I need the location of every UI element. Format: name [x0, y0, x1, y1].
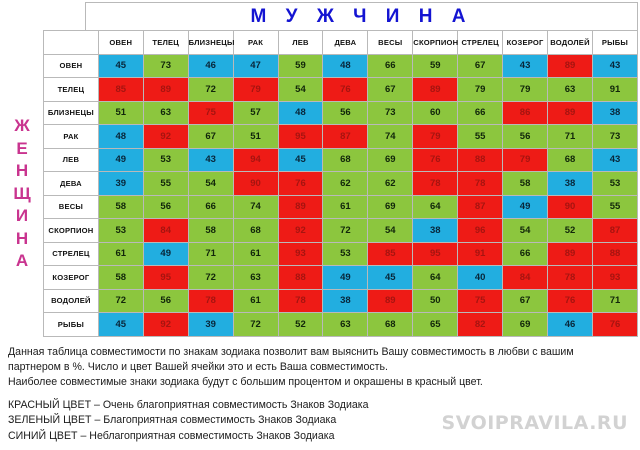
- compatibility-cell: 66: [458, 101, 503, 125]
- compatibility-cell: 49: [503, 195, 548, 219]
- compatibility-cell: 95: [143, 266, 188, 290]
- compatibility-cell: 76: [548, 289, 593, 313]
- compatibility-cell: 56: [323, 101, 368, 125]
- compatibility-cell: 87: [458, 195, 503, 219]
- column-header-5: ДЕВА: [323, 31, 368, 55]
- compatibility-cell: 48: [323, 54, 368, 78]
- compatibility-cell: 72: [188, 78, 233, 102]
- compatibility-cell: 79: [233, 78, 278, 102]
- compatibility-cell: 49: [323, 266, 368, 290]
- compatibility-cell: 69: [368, 195, 413, 219]
- description-block: Данная таблица совместимости по знакам з…: [8, 345, 632, 390]
- table-row: ЛЕВ495343944568697688796843: [44, 148, 638, 172]
- compatibility-cell: 54: [503, 219, 548, 243]
- compatibility-cell: 88: [592, 242, 637, 266]
- compatibility-cell: 64: [413, 266, 458, 290]
- female-axis-label: ЖЕНЩИНА: [2, 48, 42, 340]
- legend-blue: СИНИЙ ЦВЕТ – Неблагоприятная совместимос…: [8, 429, 448, 444]
- compatibility-cell: 95: [278, 125, 323, 149]
- row-header-4: ЛЕВ: [44, 148, 99, 172]
- compatibility-cell: 87: [592, 219, 637, 243]
- compatibility-cell: 59: [413, 54, 458, 78]
- compatibility-cell: 43: [592, 148, 637, 172]
- table-row: ДЕВА395554907662627878583853: [44, 172, 638, 196]
- compatibility-cell: 79: [503, 78, 548, 102]
- column-header-2: БЛИЗНЕЦЫ: [188, 31, 233, 55]
- description-line-2: партнером в %. Число и цвет Вашей ячейки…: [8, 360, 632, 375]
- table-row: БЛИЗНЕЦЫ516375574856736066868938: [44, 101, 638, 125]
- compatibility-cell: 67: [458, 54, 503, 78]
- compatibility-cell: 90: [233, 172, 278, 196]
- description-line-3: Наиболее совместимые знаки зодиака будут…: [8, 375, 632, 390]
- compatibility-cell: 92: [143, 125, 188, 149]
- compatibility-cell: 67: [368, 78, 413, 102]
- compatibility-infographic: М У Ж Ч И Н А ЖЕНЩИНА ОВЕНТЕЛЕЦБЛИЗНЕЦЫР…: [0, 0, 640, 450]
- compatibility-cell: 58: [503, 172, 548, 196]
- compatibility-cell: 75: [188, 101, 233, 125]
- compatibility-cell: 65: [413, 313, 458, 337]
- compatibility-cell: 61: [98, 242, 143, 266]
- compatibility-cell: 68: [368, 313, 413, 337]
- female-axis-letter-1: Е: [16, 138, 27, 160]
- compatibility-cell: 68: [548, 148, 593, 172]
- compatibility-cell: 76: [592, 313, 637, 337]
- compatibility-cell: 94: [233, 148, 278, 172]
- compatibility-cell: 72: [188, 266, 233, 290]
- compatibility-cell: 88: [458, 148, 503, 172]
- compatibility-cell: 64: [413, 195, 458, 219]
- compatibility-cell: 73: [143, 54, 188, 78]
- compatibility-cell: 58: [98, 266, 143, 290]
- compatibility-cell: 93: [278, 242, 323, 266]
- compatibility-cell: 39: [188, 313, 233, 337]
- compatibility-cell: 95: [413, 242, 458, 266]
- compatibility-cell: 91: [458, 242, 503, 266]
- male-title-bar: М У Ж Ч И Н А: [85, 2, 638, 30]
- table-row: ВОДОЛЕЙ725678617838895075677671: [44, 289, 638, 313]
- compatibility-cell: 53: [143, 148, 188, 172]
- compatibility-cell: 85: [368, 242, 413, 266]
- compatibility-cell: 40: [458, 266, 503, 290]
- compatibility-cell: 78: [458, 172, 503, 196]
- compatibility-cell: 43: [188, 148, 233, 172]
- compatibility-cell: 74: [368, 125, 413, 149]
- compatibility-cell: 45: [98, 54, 143, 78]
- compatibility-cell: 60: [413, 101, 458, 125]
- compatibility-cell: 54: [188, 172, 233, 196]
- row-header-5: ДЕВА: [44, 172, 99, 196]
- compatibility-cell: 92: [143, 313, 188, 337]
- female-axis-letter-3: Щ: [13, 183, 30, 205]
- compatibility-cell: 68: [233, 219, 278, 243]
- compatibility-cell: 56: [503, 125, 548, 149]
- row-header-7: СКОРПИОН: [44, 219, 99, 243]
- row-header-8: СТРЕЛЕЦ: [44, 242, 99, 266]
- table-row: СТРЕЛЕЦ614971619353859591668988: [44, 242, 638, 266]
- table-row: ОВЕН457346475948665967438943: [44, 54, 638, 78]
- compatibility-cell: 52: [548, 219, 593, 243]
- compatibility-cell: 51: [233, 125, 278, 149]
- legend-green: ЗЕЛЕНЫЙ ЦВЕТ – Благоприятная совместимос…: [8, 413, 448, 428]
- compatibility-cell: 63: [143, 101, 188, 125]
- description-line-1: Данная таблица совместимости по знакам з…: [8, 345, 632, 360]
- column-header-11: РЫБЫ: [592, 31, 637, 55]
- compatibility-cell: 89: [548, 54, 593, 78]
- compatibility-cell: 63: [548, 78, 593, 102]
- table-header-row: ОВЕНТЕЛЕЦБЛИЗНЕЦЫРАКЛЕВДЕВАВЕСЫСКОРПИОНС…: [44, 31, 638, 55]
- compatibility-cell: 76: [278, 172, 323, 196]
- compatibility-cell: 59: [278, 54, 323, 78]
- compatibility-cell: 72: [323, 219, 368, 243]
- compatibility-cell: 76: [413, 148, 458, 172]
- compatibility-cell: 39: [98, 172, 143, 196]
- row-header-0: ОВЕН: [44, 54, 99, 78]
- compatibility-cell: 53: [323, 242, 368, 266]
- compatibility-cell: 48: [278, 101, 323, 125]
- compatibility-cell: 55: [592, 195, 637, 219]
- compatibility-cell: 53: [98, 219, 143, 243]
- compatibility-cell: 66: [188, 195, 233, 219]
- compatibility-cell: 38: [413, 219, 458, 243]
- row-header-3: РАК: [44, 125, 99, 149]
- compatibility-cell: 69: [503, 313, 548, 337]
- compatibility-cell: 89: [143, 78, 188, 102]
- row-header-9: КОЗЕРОГ: [44, 266, 99, 290]
- compatibility-cell: 46: [548, 313, 593, 337]
- table-body: ОВЕН457346475948665967438943ТЕЛЕЦ8589727…: [44, 54, 638, 336]
- table-row: КОЗЕРОГ589572638849456440847893: [44, 266, 638, 290]
- compatibility-cell: 58: [98, 195, 143, 219]
- table-row: РАК489267519587747955567173: [44, 125, 638, 149]
- compatibility-cell: 87: [323, 125, 368, 149]
- compatibility-cell: 89: [278, 195, 323, 219]
- compatibility-cell: 84: [503, 266, 548, 290]
- compatibility-cell: 78: [188, 289, 233, 313]
- compatibility-cell: 38: [592, 101, 637, 125]
- female-axis-letter-6: А: [16, 250, 28, 272]
- compatibility-cell: 74: [233, 195, 278, 219]
- compatibility-cell: 61: [323, 195, 368, 219]
- legend-red: КРАСНЫЙ ЦВЕТ – Очень благоприятная совме…: [8, 398, 448, 413]
- column-header-7: СКОРПИОН: [413, 31, 458, 55]
- compatibility-cell: 91: [592, 78, 637, 102]
- compatibility-cell: 88: [278, 266, 323, 290]
- compatibility-cell: 62: [368, 172, 413, 196]
- compatibility-cell: 89: [548, 101, 593, 125]
- female-axis-letter-4: И: [16, 205, 28, 227]
- compatibility-cell: 90: [548, 195, 593, 219]
- compatibility-cell: 45: [278, 148, 323, 172]
- compatibility-cell: 79: [458, 78, 503, 102]
- column-header-8: СТРЕЛЕЦ: [458, 31, 503, 55]
- compatibility-cell: 45: [368, 266, 413, 290]
- compatibility-cell: 69: [368, 148, 413, 172]
- compatibility-cell: 89: [548, 242, 593, 266]
- column-header-10: ВОДОЛЕЙ: [548, 31, 593, 55]
- female-axis-letter-0: Ж: [14, 115, 29, 137]
- row-header-2: БЛИЗНЕЦЫ: [44, 101, 99, 125]
- male-title: М У Ж Ч И Н А: [251, 7, 473, 26]
- compatibility-cell: 71: [592, 289, 637, 313]
- compatibility-cell: 89: [413, 78, 458, 102]
- compatibility-cell: 67: [503, 289, 548, 313]
- compatibility-cell: 78: [278, 289, 323, 313]
- compatibility-cell: 68: [323, 148, 368, 172]
- compatibility-cell: 66: [503, 242, 548, 266]
- compatibility-cell: 96: [458, 219, 503, 243]
- compatibility-cell: 49: [98, 148, 143, 172]
- compatibility-cell: 57: [233, 101, 278, 125]
- table-row: ТЕЛЕЦ858972795476678979796391: [44, 78, 638, 102]
- compatibility-cell: 62: [323, 172, 368, 196]
- compatibility-cell: 78: [548, 266, 593, 290]
- column-header-6: ВЕСЫ: [368, 31, 413, 55]
- legend-block: КРАСНЫЙ ЦВЕТ – Очень благоприятная совме…: [8, 398, 448, 444]
- female-axis-letter-2: Н: [16, 160, 28, 182]
- column-header-9: КОЗЕРОГ: [503, 31, 548, 55]
- compatibility-cell: 66: [368, 54, 413, 78]
- compatibility-cell: 75: [458, 289, 503, 313]
- table-corner-cell: [44, 31, 99, 55]
- compatibility-cell: 50: [413, 289, 458, 313]
- row-header-1: ТЕЛЕЦ: [44, 78, 99, 102]
- compatibility-cell: 43: [503, 54, 548, 78]
- compatibility-cell: 71: [548, 125, 593, 149]
- compatibility-cell: 54: [368, 219, 413, 243]
- row-header-10: ВОДОЛЕЙ: [44, 289, 99, 313]
- compatibility-cell: 52: [278, 313, 323, 337]
- column-header-1: ТЕЛЕЦ: [143, 31, 188, 55]
- compatibility-cell: 93: [592, 266, 637, 290]
- compatibility-cell: 58: [188, 219, 233, 243]
- compatibility-cell: 61: [233, 289, 278, 313]
- compatibility-cell: 84: [143, 219, 188, 243]
- table-row: ВЕСЫ585666748961696487499055: [44, 195, 638, 219]
- compatibility-cell: 73: [592, 125, 637, 149]
- compatibility-cell: 89: [368, 289, 413, 313]
- compatibility-cell: 82: [458, 313, 503, 337]
- table-row: РЫБЫ459239725263686582694676: [44, 313, 638, 337]
- column-header-3: РАК: [233, 31, 278, 55]
- compatibility-cell: 72: [98, 289, 143, 313]
- compatibility-cell: 45: [98, 313, 143, 337]
- compatibility-cell: 53: [592, 172, 637, 196]
- compatibility-cell: 47: [233, 54, 278, 78]
- table-head: ОВЕНТЕЛЕЦБЛИЗНЕЦЫРАКЛЕВДЕВАВЕСЫСКОРПИОНС…: [44, 31, 638, 55]
- compatibility-cell: 79: [413, 125, 458, 149]
- compatibility-cell: 38: [548, 172, 593, 196]
- column-header-0: ОВЕН: [98, 31, 143, 55]
- compatibility-cell: 61: [233, 242, 278, 266]
- site-watermark: SVOIPRAVILA.RU: [442, 412, 628, 434]
- compatibility-cell: 54: [278, 78, 323, 102]
- compatibility-cell: 92: [278, 219, 323, 243]
- female-axis-letter-5: Н: [16, 228, 28, 250]
- row-header-11: РЫБЫ: [44, 313, 99, 337]
- compatibility-cell: 63: [323, 313, 368, 337]
- compatibility-cell: 55: [458, 125, 503, 149]
- compatibility-cell: 38: [323, 289, 368, 313]
- column-header-4: ЛЕВ: [278, 31, 323, 55]
- compatibility-cell: 76: [323, 78, 368, 102]
- compatibility-cell: 51: [98, 101, 143, 125]
- compatibility-cell: 72: [233, 313, 278, 337]
- compatibility-cell: 55: [143, 172, 188, 196]
- compatibility-cell: 79: [503, 148, 548, 172]
- compatibility-cell: 63: [233, 266, 278, 290]
- compatibility-cell: 56: [143, 195, 188, 219]
- compatibility-cell: 46: [188, 54, 233, 78]
- compatibility-cell: 56: [143, 289, 188, 313]
- table-row: СКОРПИОН538458689272543896545287: [44, 219, 638, 243]
- compatibility-cell: 49: [143, 242, 188, 266]
- row-header-6: ВЕСЫ: [44, 195, 99, 219]
- compatibility-cell: 78: [413, 172, 458, 196]
- compatibility-cell: 43: [592, 54, 637, 78]
- compatibility-cell: 48: [98, 125, 143, 149]
- compatibility-table: ОВЕНТЕЛЕЦБЛИЗНЕЦЫРАКЛЕВДЕВАВЕСЫСКОРПИОНС…: [43, 30, 638, 337]
- compatibility-cell: 85: [98, 78, 143, 102]
- compatibility-cell: 73: [368, 101, 413, 125]
- compatibility-cell: 86: [503, 101, 548, 125]
- compatibility-cell: 67: [188, 125, 233, 149]
- compatibility-cell: 71: [188, 242, 233, 266]
